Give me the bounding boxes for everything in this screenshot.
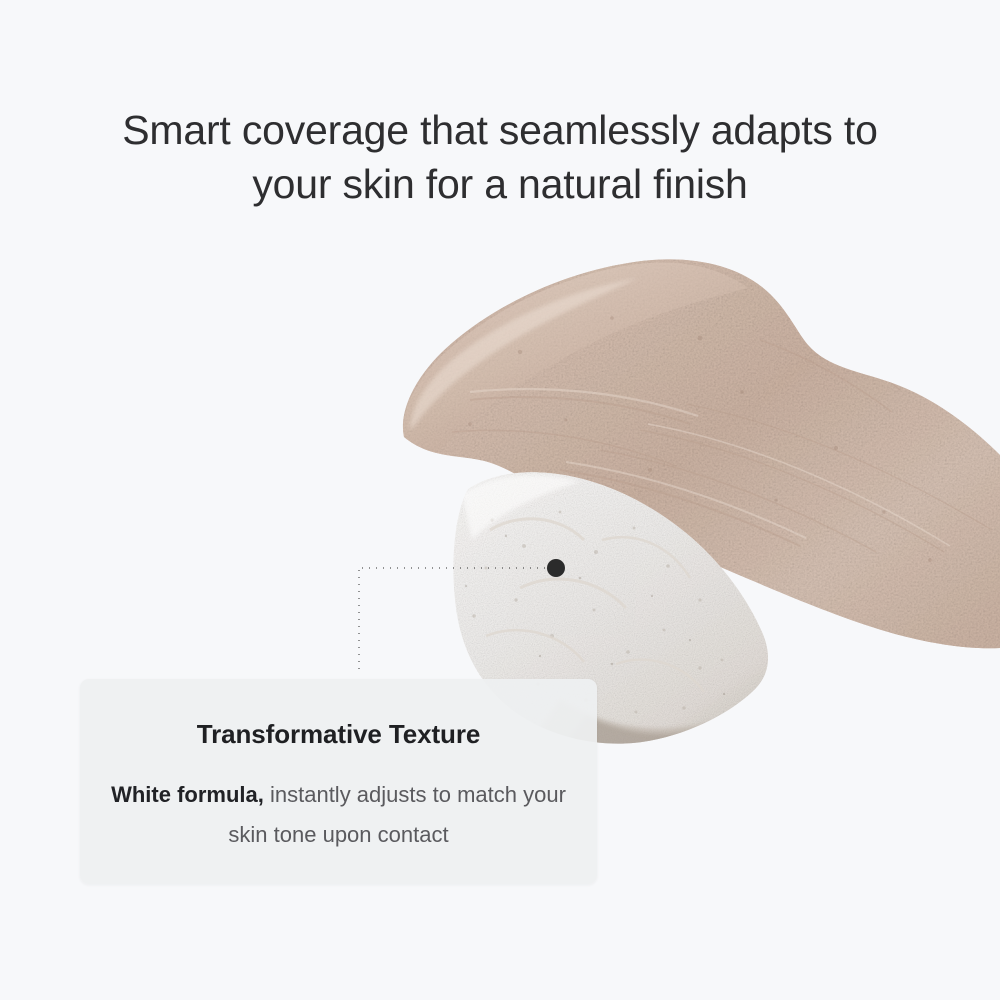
callout-dot-marker (547, 559, 565, 577)
card-body-rest: instantly adjusts to match your skin ton… (228, 782, 565, 847)
cream-smear-group (380, 250, 1000, 680)
card-body-lead: White formula, (111, 782, 264, 807)
info-card: Transformative Texture White formula, in… (80, 679, 597, 884)
promo-canvas: Smart coverage that seamlessly adapts to… (0, 0, 1000, 1000)
callout-line-vertical (358, 567, 360, 673)
card-body: White formula, instantly adjusts to matc… (98, 775, 579, 855)
page-title: Smart coverage that seamlessly adapts to… (0, 103, 1000, 211)
card-title: Transformative Texture (80, 719, 597, 750)
callout-line-horizontal (359, 567, 557, 569)
